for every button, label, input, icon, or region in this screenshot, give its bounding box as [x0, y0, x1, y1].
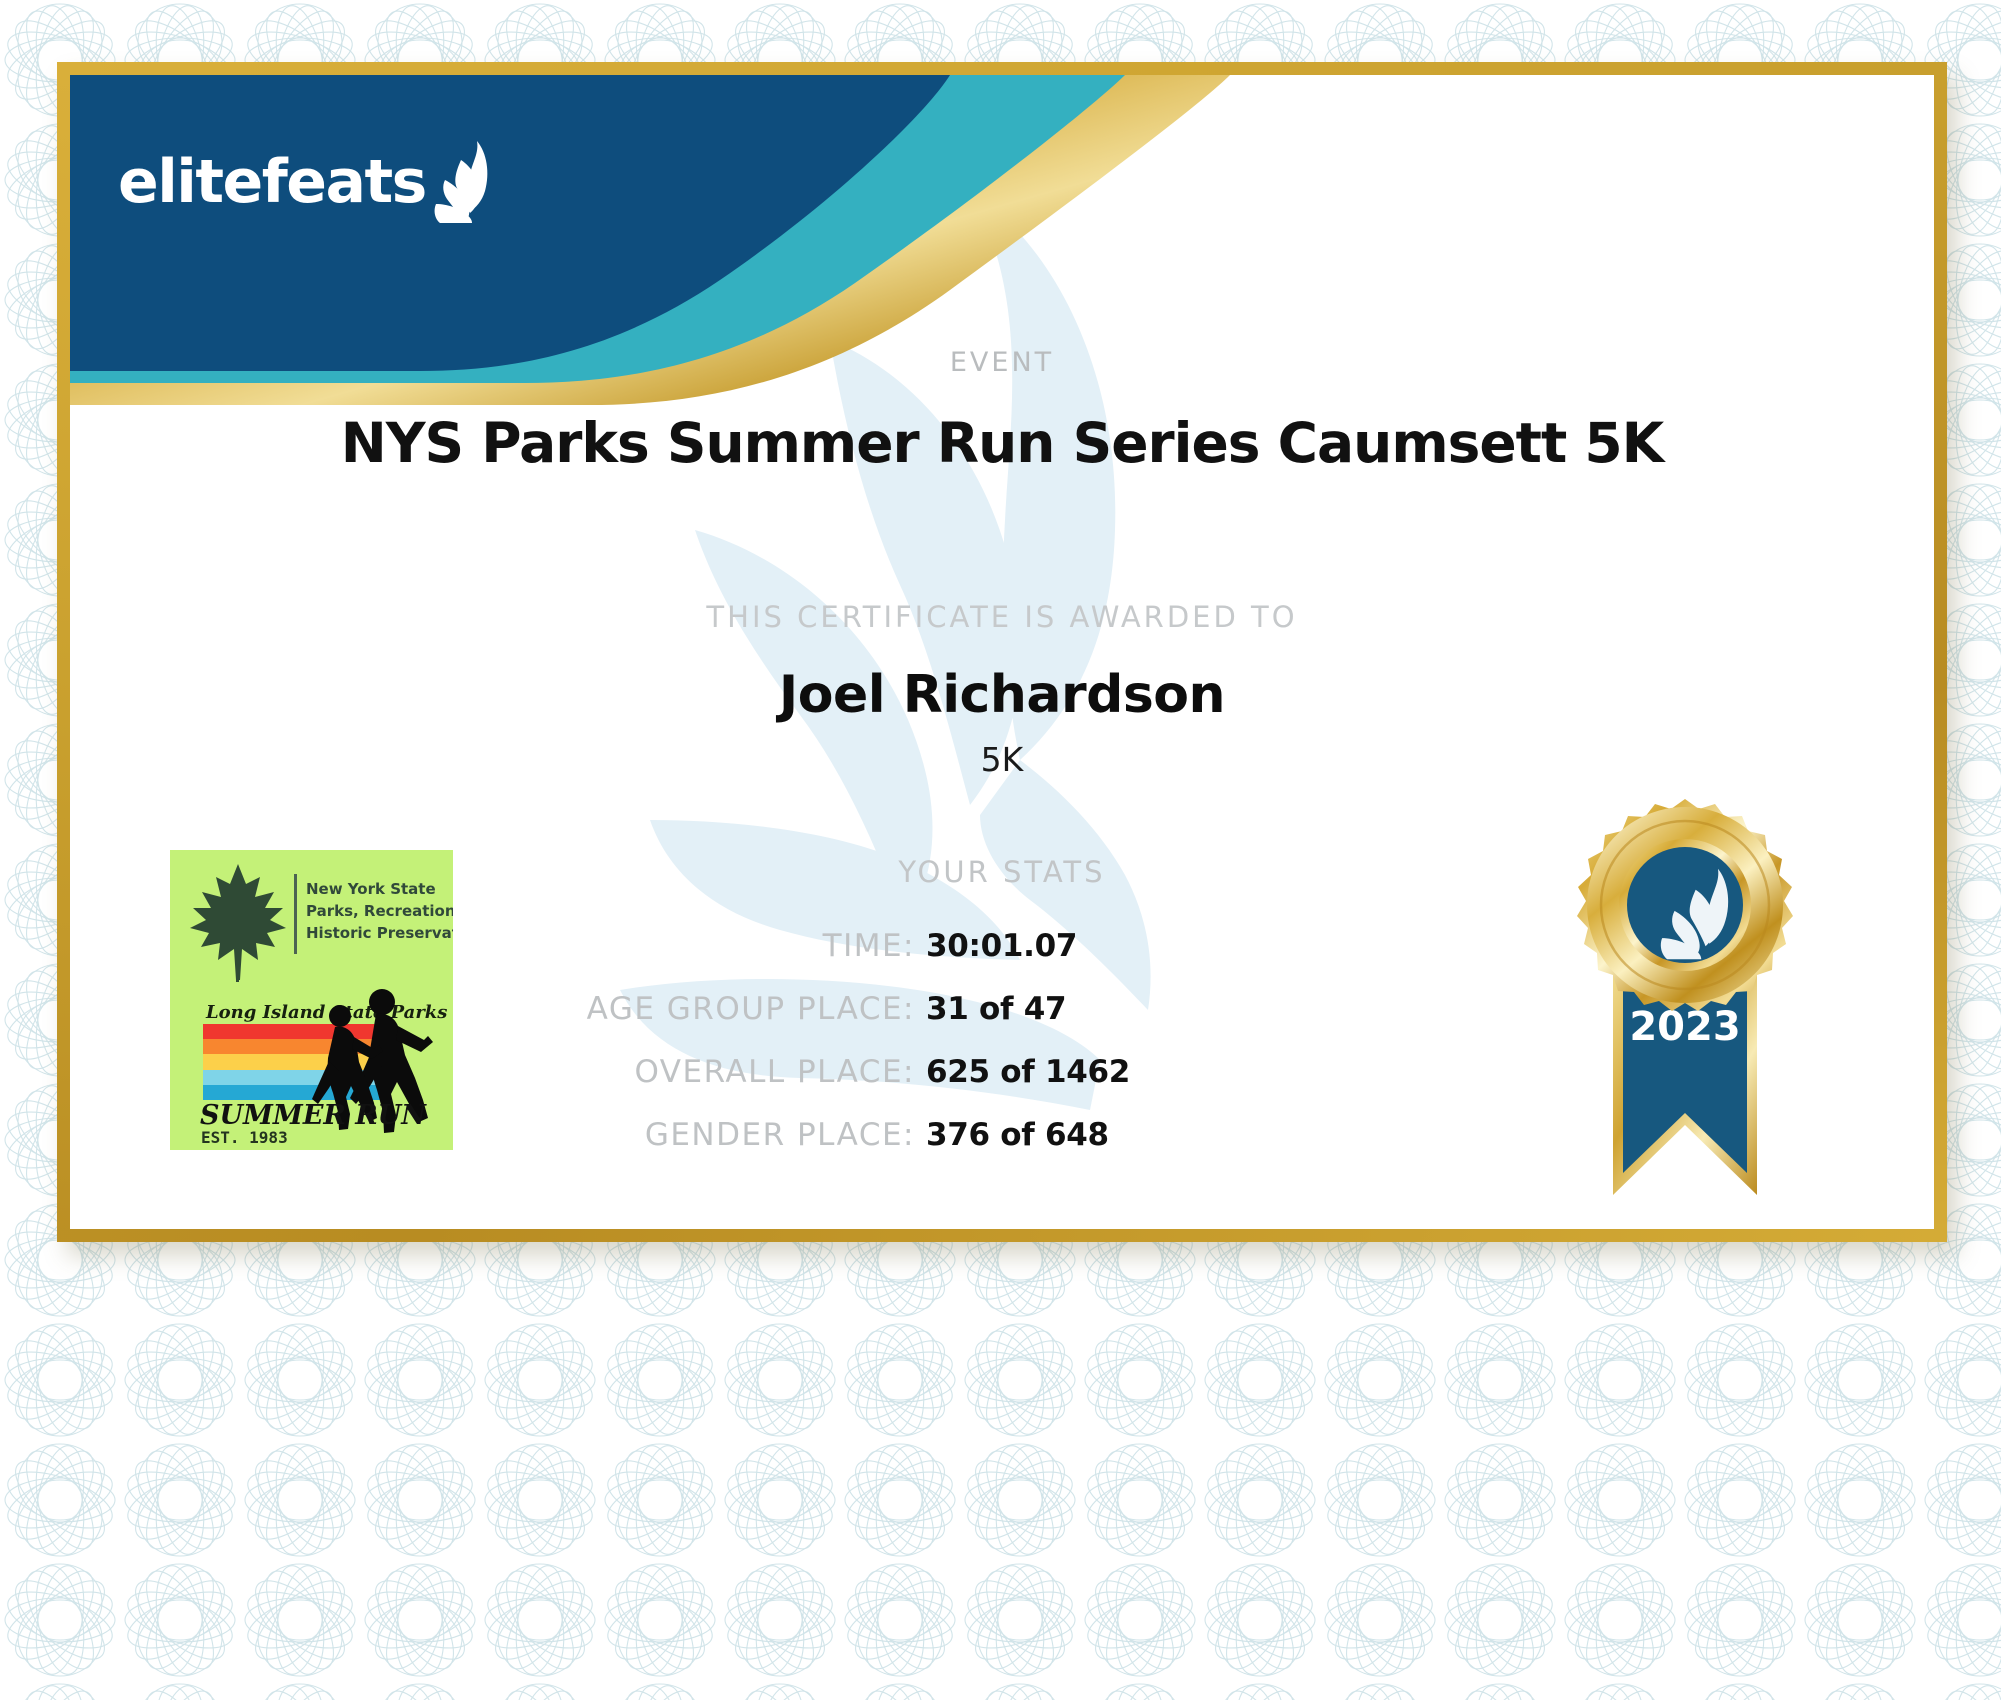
medal-artwork: 2023	[1535, 795, 1835, 1225]
winged-foot-icon	[430, 137, 502, 227]
stats-table: TIME: 30:01.07 AGE GROUP PLACE: 31 of 47…	[430, 928, 1310, 1153]
sponsor-logo-nys-parks: New York State Parks, Recreation and His…	[170, 850, 453, 1150]
stat-row-gender-place: GENDER PLACE: 376 of 648	[430, 1117, 1310, 1153]
stat-value: 625 of 1462	[915, 1054, 1305, 1090]
finisher-medal-badge: 2023	[1535, 795, 1835, 1229]
recipient-name: Joel Richardson	[70, 665, 1934, 725]
stat-row-time: TIME: 30:01.07	[430, 928, 1310, 964]
event-title: NYS Parks Summer Run Series Caumsett 5K	[70, 411, 1934, 475]
elitefeats-logo[interactable]: elitefeats	[118, 137, 502, 227]
stat-value: 31 of 47	[915, 991, 1305, 1027]
stat-key: AGE GROUP PLACE:	[435, 991, 915, 1027]
recipient-division: 5K	[70, 740, 1934, 779]
series-name: Long Island State Parks	[205, 1002, 447, 1023]
elitefeats-wordmark: elitefeats	[118, 152, 426, 212]
stat-key: GENDER PLACE:	[435, 1117, 915, 1153]
certificate-page: elitefeats EVENT NYS Parks Summer Run Se…	[0, 0, 2001, 1700]
agency-line-1: New York State	[306, 880, 436, 898]
medal-year: 2023	[1629, 1004, 1740, 1050]
stat-key: TIME:	[435, 928, 915, 964]
series-title: SUMMER RUN	[200, 1100, 427, 1131]
gold-frame-border: elitefeats EVENT NYS Parks Summer Run Se…	[57, 62, 1947, 1242]
agency-line-2: Parks, Recreation and	[306, 902, 453, 920]
agency-line-3: Historic Preservation	[306, 924, 453, 942]
stat-row-overall-place: OVERALL PLACE: 625 of 1462	[430, 1054, 1310, 1090]
stat-value: 30:01.07	[915, 928, 1305, 964]
certificate-body: elitefeats EVENT NYS Parks Summer Run Se…	[70, 75, 1934, 1229]
stat-value: 376 of 648	[915, 1117, 1305, 1153]
sponsor-logo-artwork: New York State Parks, Recreation and His…	[170, 850, 453, 1150]
stat-key: OVERALL PLACE:	[435, 1054, 915, 1090]
awarded-to-label: THIS CERTIFICATE IS AWARDED TO	[70, 600, 1934, 634]
established-text: EST. 1983	[201, 1128, 288, 1147]
certificate-content: EVENT NYS Parks Summer Run Series Caumse…	[70, 75, 1934, 1229]
medal-starburst	[1577, 799, 1793, 1011]
event-label: EVENT	[70, 347, 1934, 378]
stat-row-age-group-place: AGE GROUP PLACE: 31 of 47	[430, 991, 1310, 1027]
